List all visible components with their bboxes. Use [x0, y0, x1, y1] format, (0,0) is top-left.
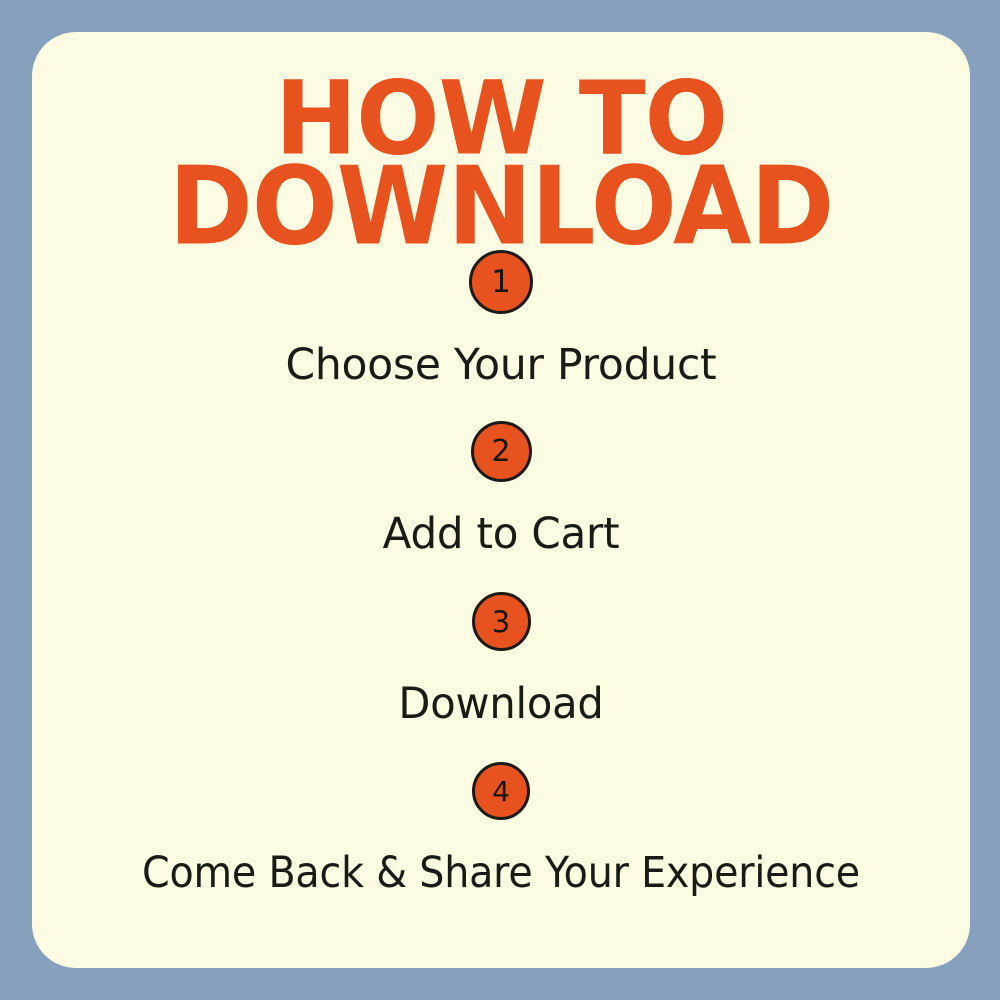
page-title: HOW TO DOWNLOAD — [32, 88, 970, 241]
step-label-4: Come Back & Share Your Experience — [37, 852, 966, 894]
steps-list: 1 Choose Your Product 2 Add to Cart 3 Do… — [32, 250, 970, 893]
poster-canvas: HOW TO DOWNLOAD 1 Choose Your Product 2 … — [0, 0, 1000, 1000]
step-number-badge-1: 1 — [469, 250, 533, 314]
instruction-card: HOW TO DOWNLOAD 1 Choose Your Product 2 … — [32, 32, 970, 968]
step-item-4: 4 Come Back & Share Your Experience — [32, 762, 970, 893]
step-number-badge-2: 2 — [471, 421, 532, 482]
step-number-badge-4: 4 — [472, 762, 530, 820]
step-label-2: Add to Cart — [32, 513, 970, 555]
step-label-1: Choose Your Product — [32, 344, 970, 386]
step-item-3: 3 Download — [32, 592, 970, 724]
step-item-2: 2 Add to Cart — [32, 421, 970, 554]
title-line-download: DOWNLOAD — [32, 163, 970, 253]
step-item-1: 1 Choose Your Product — [32, 250, 970, 385]
step-label-3: Download — [32, 683, 970, 725]
step-number-badge-3: 3 — [472, 592, 531, 651]
